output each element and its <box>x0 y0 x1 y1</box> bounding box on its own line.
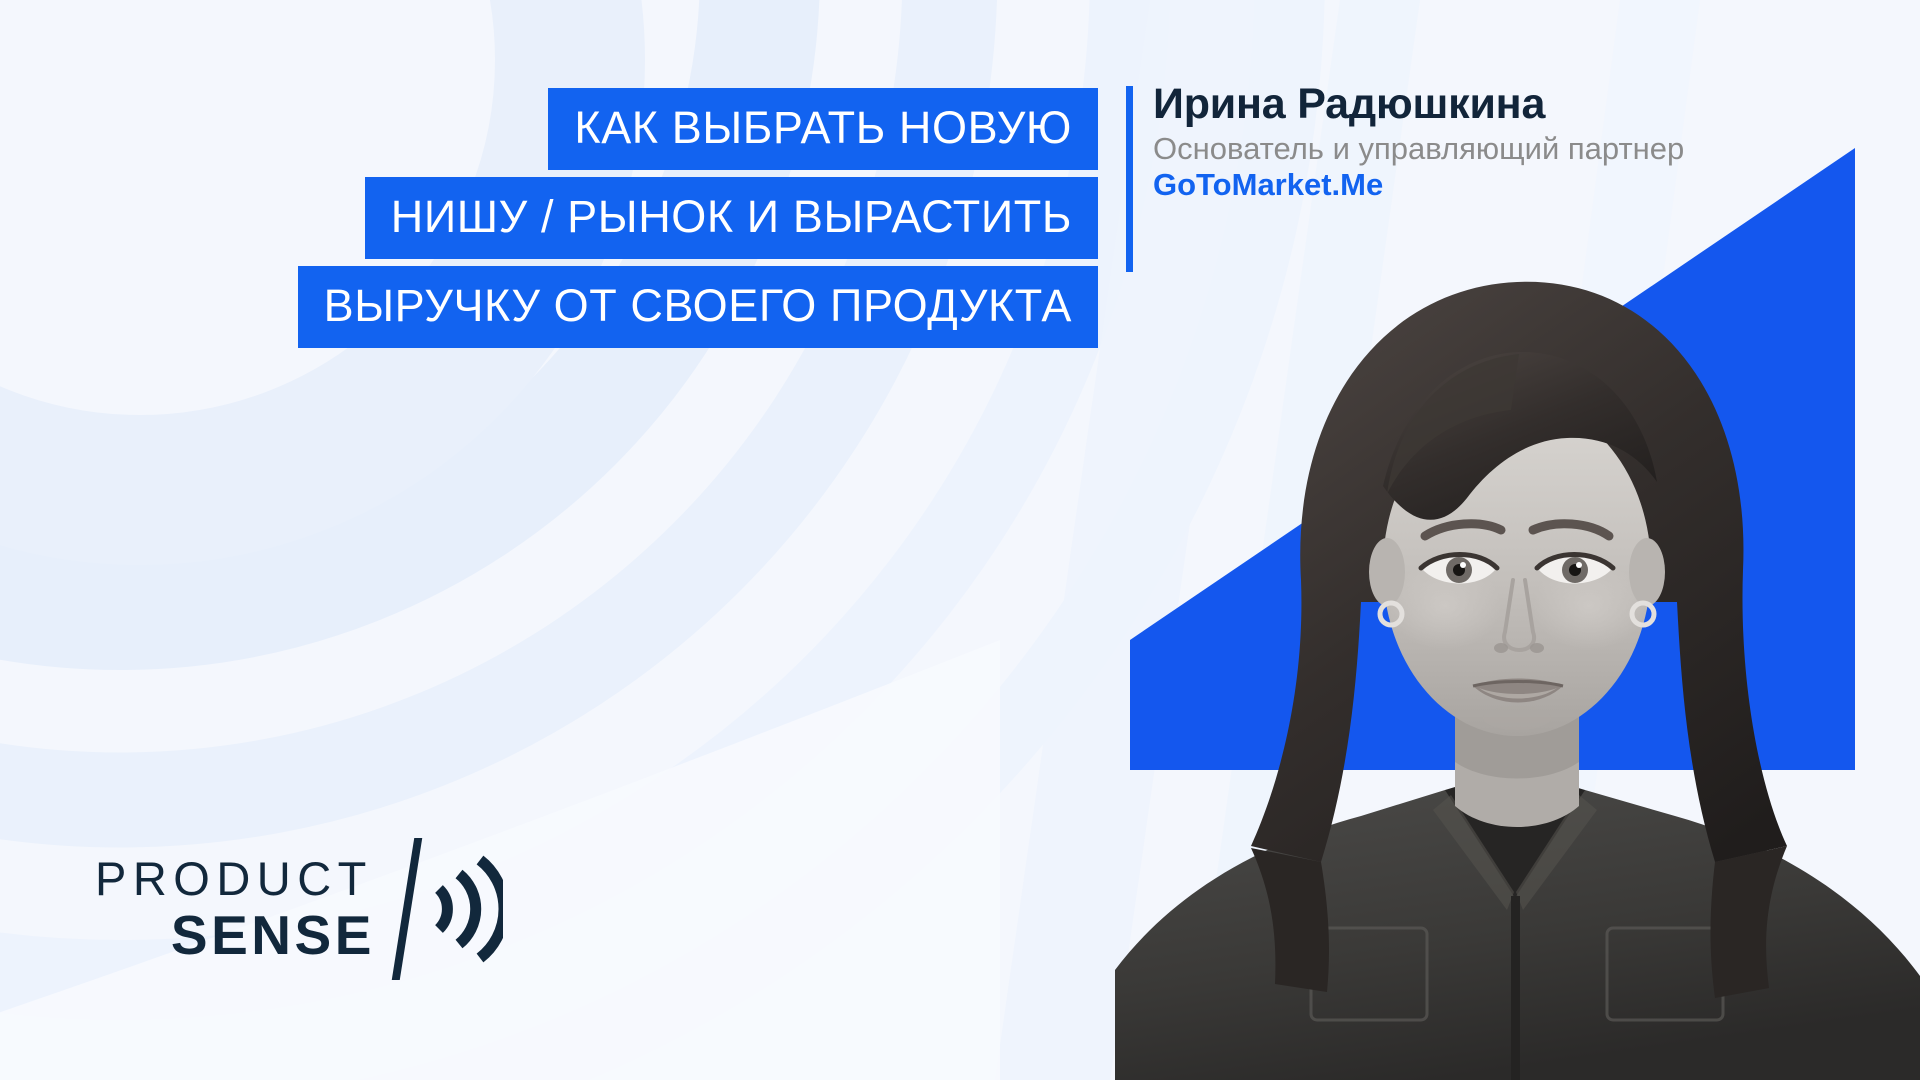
title-line-3: ВЫРУЧКУ ОТ СВОЕГО ПРОДУКТА <box>298 266 1098 348</box>
logo-wordmark: PRODUCT SENSE <box>95 855 373 963</box>
title-line-2: НИШУ / РЫНОК И ВЫРАСТИТЬ <box>365 177 1098 259</box>
speaker-photo <box>1115 250 1920 1080</box>
speaker-role: Основатель и управляющий партнер <box>1153 131 1733 166</box>
sound-wave-icon <box>433 854 503 964</box>
slide-title: КАК ВЫБРАТЬ НОВУЮ НИШУ / РЫНОК И ВЫРАСТИ… <box>0 88 1098 348</box>
logo-product-text: PRODUCT <box>95 855 373 902</box>
logo-sense-text: SENSE <box>171 908 375 963</box>
title-line-1: КАК ВЫБРАТЬ НОВУЮ <box>548 88 1098 170</box>
speaker-company: GoToMarket.Me <box>1153 167 1793 203</box>
speaker-info: Ирина Радюшкина Основатель и управляющий… <box>1126 82 1793 202</box>
logo-slash-divider <box>392 838 422 980</box>
presentation-slide: КАК ВЫБРАТЬ НОВУЮ НИШУ / РЫНОК И ВЫРАСТИ… <box>0 0 1920 1080</box>
speaker-portrait-svg <box>1115 250 1920 1080</box>
productsense-logo: PRODUCT SENSE <box>95 838 503 980</box>
speaker-name: Ирина Радюшкина <box>1153 82 1793 127</box>
